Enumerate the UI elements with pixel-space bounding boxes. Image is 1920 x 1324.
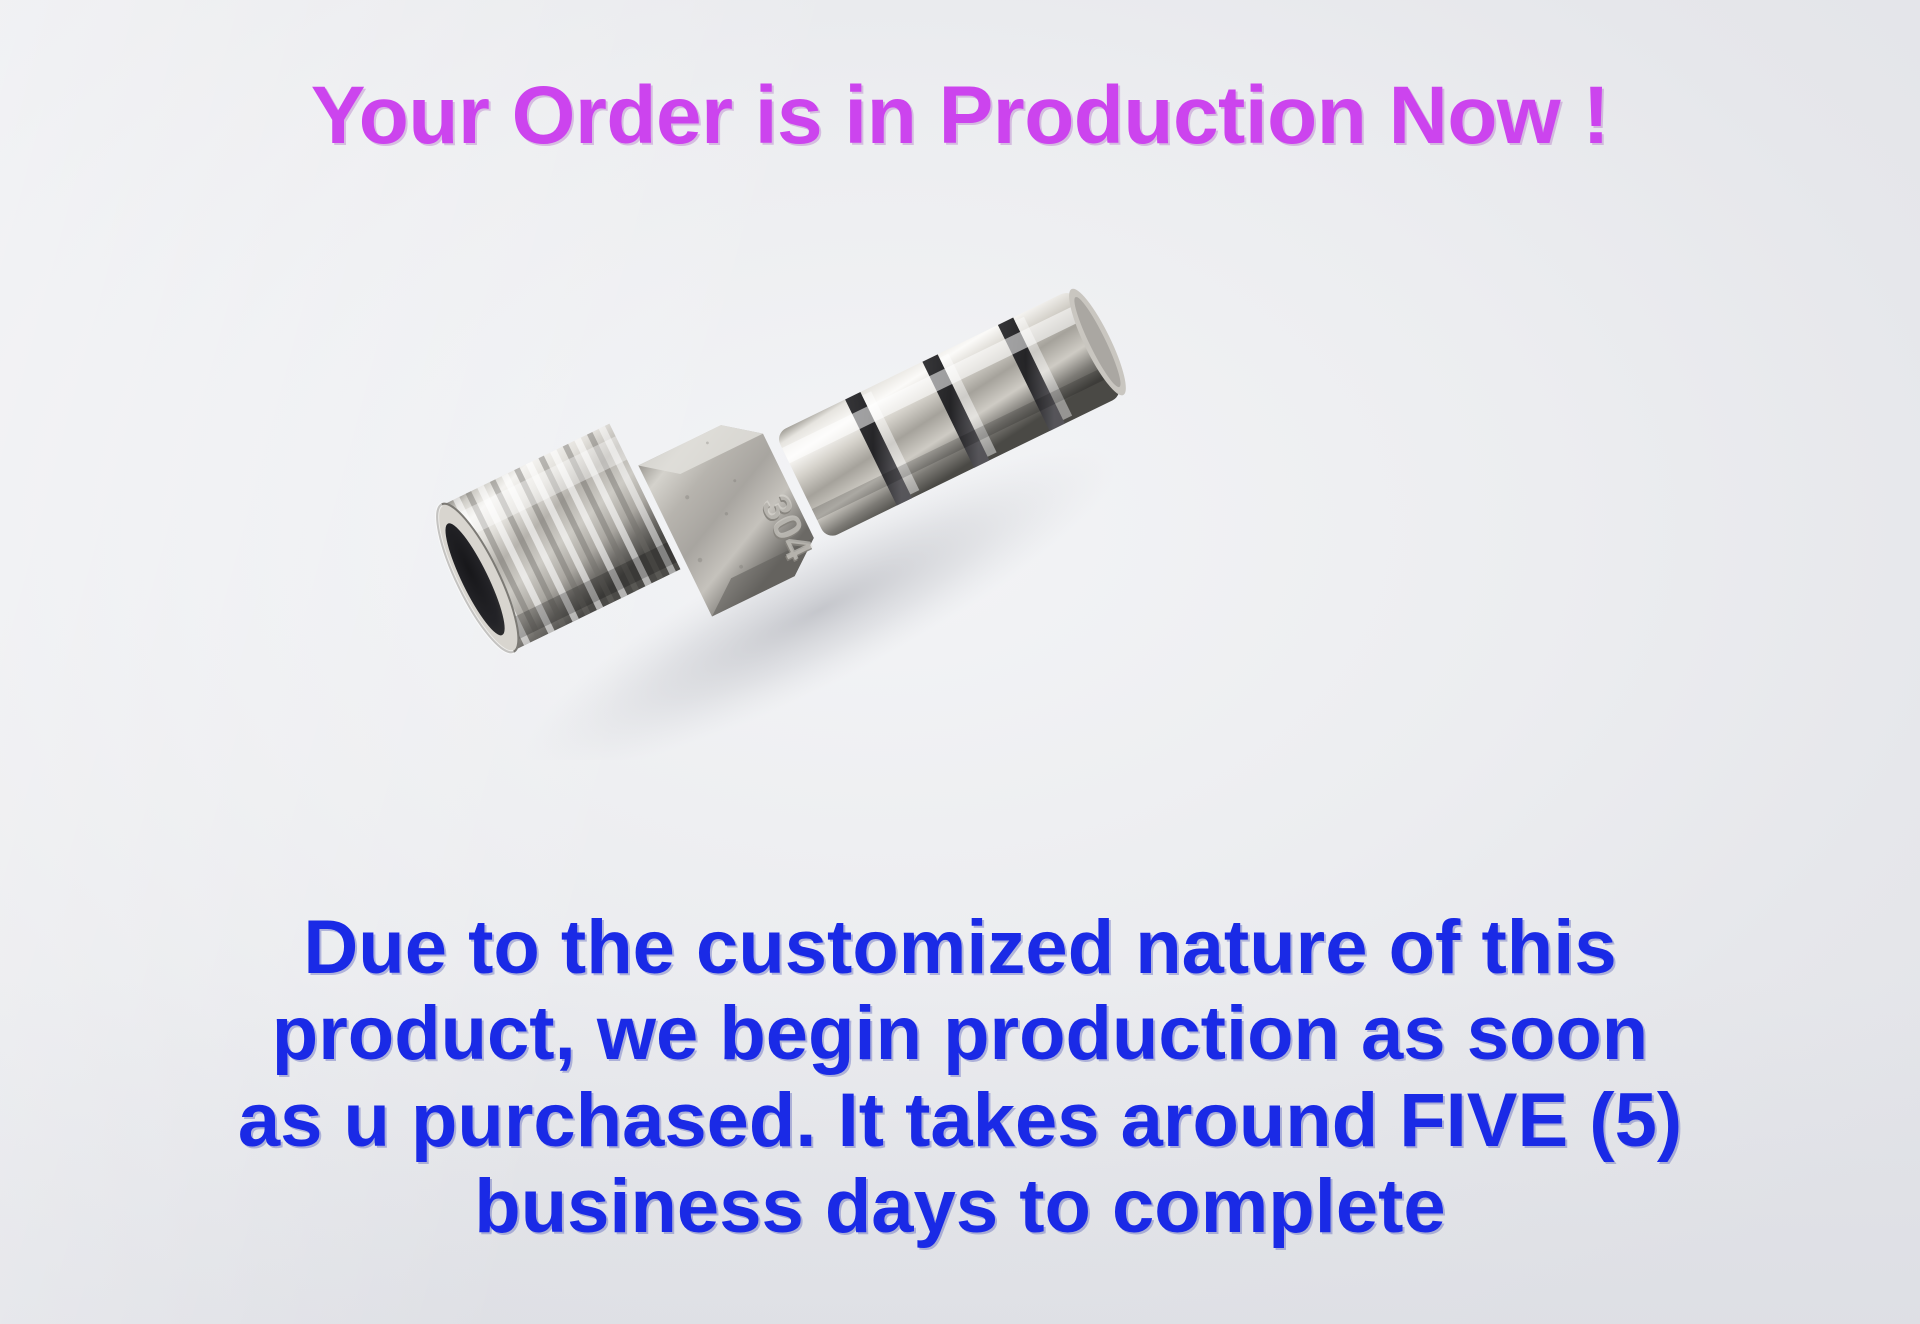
notice-line-3: as u purchased. It takes around FIVE (5) bbox=[110, 1078, 1810, 1164]
promo-banner: Your Order is in Production Now ! bbox=[0, 0, 1920, 1324]
threaded-npt-end bbox=[430, 423, 681, 661]
headline-order-in-production: Your Order is in Production Now ! bbox=[0, 74, 1920, 158]
notice-line-1: Due to the customized nature of this bbox=[110, 905, 1810, 991]
production-notice-text: Due to the customized nature of this pro… bbox=[110, 905, 1810, 1250]
notice-line-2: product, we begin production as soon bbox=[110, 991, 1810, 1077]
notice-line-4: business days to complete bbox=[110, 1164, 1810, 1250]
product-photo-hose-barb-fitting: 304 304 bbox=[430, 280, 1190, 760]
